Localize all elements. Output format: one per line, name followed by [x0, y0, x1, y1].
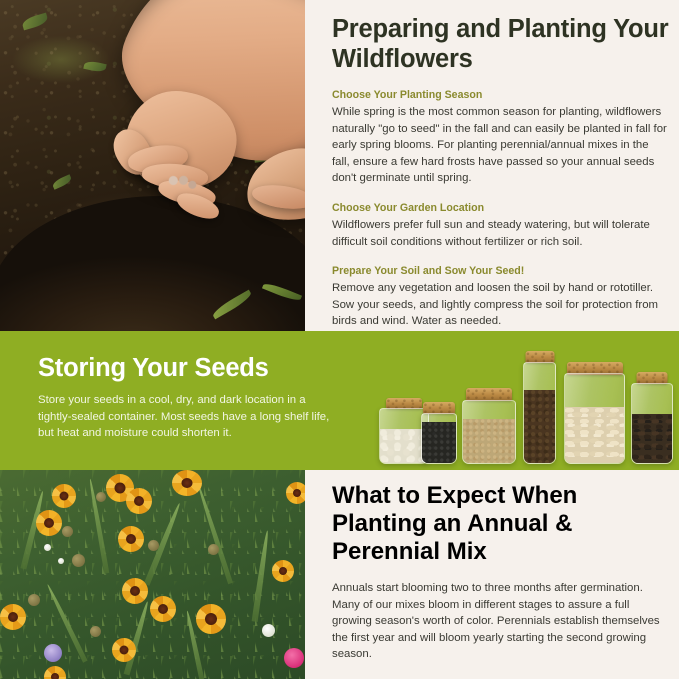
jar-glass [523, 362, 556, 464]
coreopsis-flower [150, 596, 176, 622]
coreopsis-flower [172, 470, 202, 496]
seed-jar [631, 372, 673, 464]
image-hand-sowing-seeds [0, 0, 305, 331]
storing-seeds-body: Store your seeds in a cool, dry, and dar… [38, 392, 338, 442]
white-flower [262, 624, 275, 637]
infographic-page: Preparing and Planting Your Wildflowers … [0, 0, 679, 679]
white-flower [58, 558, 64, 564]
seed-head [208, 544, 219, 555]
coreopsis-flower [286, 482, 305, 504]
jar-contents-pumpkin-seeds [565, 407, 624, 463]
what-to-expect-body: Annuals start blooming two to three mont… [332, 580, 669, 663]
section-what-to-expect: What to Expect When Planting an Annual &… [0, 470, 679, 679]
seed-head [72, 554, 85, 567]
body-garden-location: Wildflowers prefer full sun and steady w… [332, 217, 669, 250]
coreopsis-flower [126, 488, 152, 514]
jar-glass [631, 383, 673, 464]
coreopsis-flower [196, 604, 226, 634]
pink-flower [284, 648, 304, 668]
page-title: Preparing and Planting Your Wildflowers [332, 14, 669, 74]
jar-contents-black-seeds [422, 422, 456, 463]
section-preparing-planting: Preparing and Planting Your Wildflowers … [0, 0, 679, 331]
seed-head [90, 626, 101, 637]
preparing-planting-copy: Preparing and Planting Your Wildflowers … [332, 0, 679, 331]
coreopsis-flower [122, 578, 148, 604]
seed-head [148, 540, 159, 551]
jar-contents-dark-seeds [524, 390, 555, 463]
coreopsis-flower [36, 510, 62, 536]
coreopsis-flower [0, 604, 26, 630]
jar-glass [462, 400, 516, 464]
seed-jar [462, 388, 516, 464]
cornflower [44, 644, 62, 662]
image-seed-jars [373, 339, 673, 470]
body-prepare-soil: Remove any vegetation and loosen the soi… [332, 280, 669, 330]
seed-head [28, 594, 40, 606]
jar-glass [421, 413, 457, 464]
coreopsis-flower [272, 560, 294, 582]
coreopsis-flower [52, 484, 76, 508]
what-to-expect-copy: What to Expect When Planting an Annual &… [332, 470, 679, 679]
jar-glass [564, 373, 625, 464]
image-wildflower-meadow [0, 470, 305, 679]
storing-seeds-title: Storing Your Seeds [38, 353, 338, 383]
subheading-prepare-soil: Prepare Your Soil and Sow Your Seed! [332, 263, 669, 279]
body-planting-season: While spring is the most common season f… [332, 104, 669, 187]
seed-jar [523, 351, 556, 464]
jar-contents-tan-seeds [463, 419, 515, 463]
white-flower [44, 544, 51, 551]
what-to-expect-title: What to Expect When Planting an Annual &… [332, 482, 669, 566]
section-storing-seeds: Storing Your Seeds Store your seeds in a… [0, 331, 679, 470]
coreopsis-flower [118, 526, 144, 552]
storing-seeds-copy: Storing Your Seeds Store your seeds in a… [38, 353, 338, 442]
seed-jar [421, 402, 457, 464]
jar-contents-sunflower-seeds [632, 414, 672, 463]
seed-jar [564, 362, 625, 464]
seed-head [62, 526, 73, 537]
coreopsis-flower [112, 638, 136, 662]
subheading-garden-location: Choose Your Garden Location [332, 200, 669, 216]
seed-head [96, 492, 106, 502]
subheading-planting-season: Choose Your Planting Season [332, 87, 669, 103]
